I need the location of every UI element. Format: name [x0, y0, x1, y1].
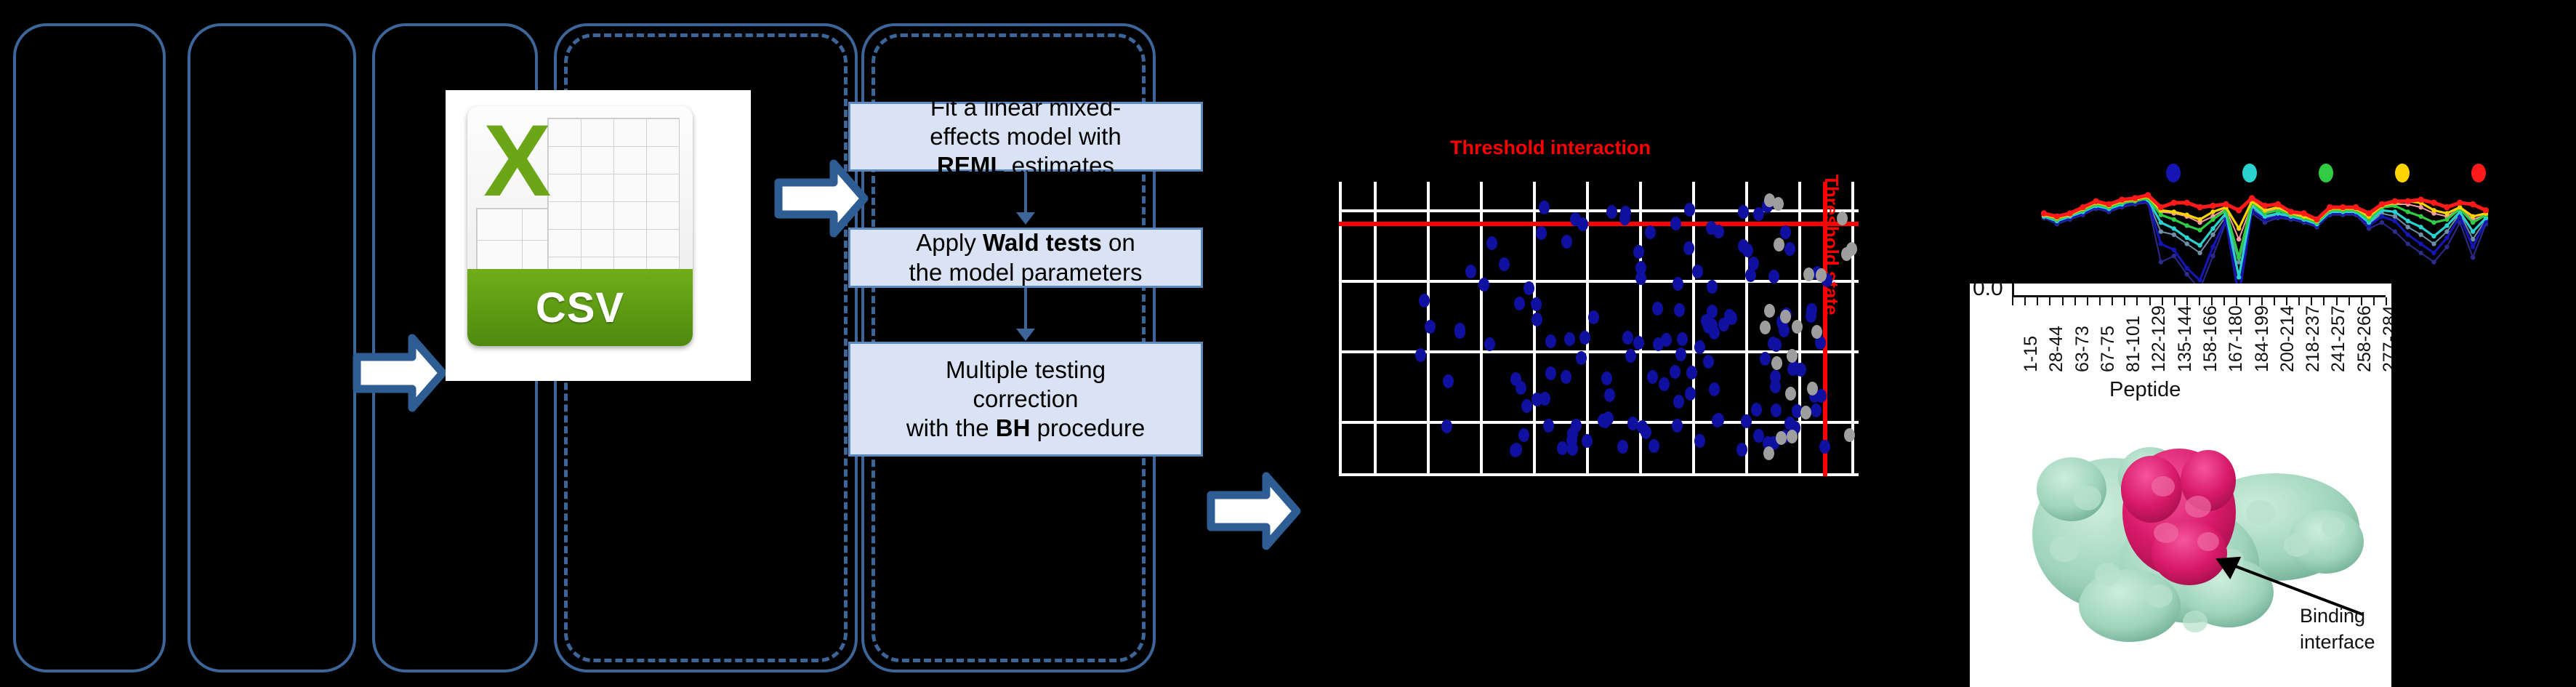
legend-dot-2	[2319, 164, 2333, 182]
volcano-point	[1635, 271, 1646, 285]
volcano-point	[1588, 310, 1599, 324]
peptide-marker	[2444, 236, 2449, 240]
peptide-marker	[2054, 214, 2060, 220]
volcano-point	[1677, 332, 1688, 346]
peptide-marker	[2418, 214, 2423, 219]
volcano-point	[1415, 348, 1426, 362]
x-axis-tick	[2211, 297, 2213, 305]
volcano-point	[1604, 388, 1615, 402]
x-axis-tick	[2249, 297, 2250, 305]
peptide-marker	[2185, 212, 2189, 217]
volcano-point	[1673, 277, 1683, 291]
arrow-data-to-csv	[353, 331, 447, 418]
volcano-point	[1675, 347, 1686, 361]
peptide-marker	[2159, 220, 2163, 225]
volcano-point	[1543, 419, 1554, 433]
volcano-point	[1539, 201, 1550, 214]
legend-dot-1	[2242, 164, 2257, 182]
volcano-point	[1745, 268, 1756, 282]
csv-file-icon: X CSV	[467, 106, 693, 346]
peptide-marker	[2301, 210, 2306, 216]
x-axis-tick	[2286, 297, 2287, 305]
volcano-point-nonsignificant	[1771, 356, 1782, 370]
peptide-marker	[2237, 255, 2241, 260]
x-axis-tick	[2223, 297, 2225, 305]
volcano-point	[1706, 221, 1717, 235]
volcano-point	[1811, 403, 1822, 417]
volcano-point	[1478, 278, 1489, 292]
peptide-marker	[2353, 204, 2359, 210]
volcano-point	[1692, 265, 1703, 278]
volcano-point	[1627, 417, 1638, 430]
peptide-marker	[2444, 223, 2449, 228]
peptide-marker	[2197, 243, 2202, 247]
volcano-point	[1779, 324, 1790, 337]
peptide-marker	[2041, 210, 2047, 216]
x-axis-tick	[2261, 297, 2263, 305]
peptide-marker	[2080, 204, 2085, 210]
volcano-point-nonsignificant	[1787, 349, 1798, 363]
peptide-tick-label: 81-101	[2123, 316, 2144, 372]
volcano-point	[1645, 225, 1656, 239]
volcano-point	[1738, 205, 1749, 219]
peptide-marker	[2185, 266, 2189, 270]
excel-x-glyph: X	[483, 110, 551, 212]
peptide-marker	[2418, 205, 2423, 209]
volcano-point	[1741, 414, 1752, 428]
connector-fit-to-wald	[1024, 172, 1027, 212]
peptide-marker	[2483, 207, 2489, 213]
x-axis-tick	[2174, 297, 2175, 305]
volcano-point	[1564, 332, 1575, 346]
volcano-point	[1601, 371, 1612, 385]
peptide-marker	[2471, 220, 2475, 225]
peptide-tick-label: 218-237	[2303, 305, 2324, 372]
volcano-point-nonsignificant	[1785, 387, 1796, 401]
peptide-marker	[2172, 233, 2176, 237]
x-axis-tick	[2074, 297, 2076, 305]
volcano-point	[1531, 313, 1542, 326]
volcano-point	[1753, 207, 1764, 221]
volcano-point-nonsignificant	[1774, 238, 1784, 252]
csv-format-band: CSV	[467, 269, 693, 346]
peptide-marker	[2185, 241, 2189, 246]
peptide-marker	[2223, 201, 2229, 207]
peptide-marker	[2172, 209, 2176, 214]
binding-interface-callout-line2: interface	[2300, 631, 2375, 654]
x-axis-tick	[2361, 297, 2362, 305]
volcano-point	[1686, 366, 1697, 379]
peptide-line-chart	[1984, 182, 2493, 287]
peptide-marker	[2197, 204, 2202, 210]
peptide-marker	[2431, 220, 2436, 225]
x-axis-tick	[2087, 297, 2088, 305]
volcano-point	[1673, 395, 1684, 409]
peptide-marker	[2119, 197, 2125, 203]
peptide-marker	[2172, 217, 2176, 222]
peptide-tick-label: 1-15	[2021, 336, 2042, 372]
peptide-marker	[2237, 237, 2241, 241]
volcano-point	[1760, 352, 1771, 366]
binding-interface-callout-line1: Binding	[2300, 605, 2365, 627]
peptide-marker	[2471, 229, 2475, 233]
peptide-tick-label: 184-199	[2252, 305, 2273, 372]
peptide-marker	[2393, 209, 2397, 214]
volcano-point	[1819, 440, 1830, 454]
peptide-marker	[2184, 200, 2190, 206]
volcano-point	[1545, 366, 1556, 380]
peptide-marker	[2393, 229, 2397, 233]
volcano-point	[1622, 331, 1633, 345]
volcano-point	[1649, 439, 1659, 453]
peptide-marker	[2431, 260, 2436, 264]
volcano-point	[1694, 340, 1705, 354]
peptide-marker	[2159, 260, 2163, 264]
peptide-tick-label: 158-166	[2200, 305, 2221, 372]
stage-box-1	[13, 23, 166, 672]
volcano-point	[1647, 370, 1658, 384]
peptide-marker	[2171, 200, 2177, 206]
peptide-marker	[2471, 244, 2475, 249]
peptide-marker	[2236, 207, 2242, 213]
x-axis-tick	[2186, 297, 2188, 305]
volcano-point	[1684, 203, 1695, 217]
peptide-marker	[2418, 251, 2423, 255]
peptide-marker	[2185, 236, 2189, 240]
volcano-point	[1784, 417, 1795, 430]
peptide-marker	[2406, 233, 2410, 237]
csv-grid-main	[547, 118, 680, 272]
peptide-tick-label: 167-180	[2226, 305, 2247, 372]
peptide-marker	[2067, 210, 2073, 216]
y-tick-label-zero: 0.0	[1973, 284, 2003, 301]
peptide-marker	[2159, 229, 2163, 233]
volcano-point	[1443, 374, 1454, 388]
peptide-marker	[2197, 251, 2202, 255]
volcano-point	[1736, 443, 1747, 457]
y-axis-stub	[2012, 284, 2014, 297]
peptide-marker	[2444, 204, 2450, 210]
threshold-interaction-label: Threshold interaction	[1450, 137, 1651, 159]
x-axis-tick	[2274, 297, 2275, 305]
volcano-point-nonsignificant	[1763, 446, 1774, 460]
x-axis-tick	[2049, 297, 2050, 305]
peptide-marker	[2431, 208, 2436, 212]
volcano-point-nonsignificant	[1764, 304, 1775, 318]
peptide-marker	[2431, 234, 2436, 238]
peptide-marker	[2471, 255, 2475, 260]
csv-format-label: CSV	[536, 284, 624, 332]
x-axis-ticks	[2012, 297, 2386, 306]
volcano-point	[1539, 392, 1550, 406]
legend-dot-3	[2395, 164, 2410, 182]
volcano-point-nonsignificant	[1816, 268, 1827, 282]
x-axis-tick	[2024, 297, 2026, 305]
volcano-point	[1521, 399, 1532, 413]
volcano-point	[1606, 205, 1617, 219]
peptide-marker	[2106, 201, 2112, 207]
volcano-point	[1742, 244, 1753, 257]
peptide-marker	[2406, 225, 2410, 229]
x-axis-tick	[2386, 297, 2387, 305]
volcano-point-nonsignificant	[1811, 325, 1822, 339]
peptide-axis-and-structure-card: 0.0 1-1528-4463-7367-7581-101122-129135-…	[1970, 284, 2391, 687]
volcano-point	[1510, 443, 1521, 457]
volcano-point	[1694, 434, 1705, 448]
peptide-tick-label: 122-129	[2149, 305, 2170, 372]
volcano-point	[1652, 302, 1663, 316]
volcano-point	[1454, 325, 1465, 339]
peptide-marker	[2418, 197, 2423, 203]
volcano-point	[1561, 370, 1571, 384]
volcano-point	[1751, 403, 1762, 417]
volcano-point	[1518, 428, 1529, 442]
volcano-point	[1625, 349, 1636, 363]
peptide-marker	[2406, 241, 2410, 246]
volcano-point	[1441, 419, 1452, 433]
peptide-tick-label: 28-44	[2046, 326, 2067, 372]
peptide-marker	[2314, 217, 2319, 222]
peptide-marker	[2249, 195, 2255, 201]
volcano-point	[1707, 305, 1718, 318]
process-box-fit-model: Fit a linear mixed-effects model with RE…	[848, 102, 1203, 172]
peptide-tick-label: 241-257	[2328, 305, 2349, 372]
volcano-point-cloud	[1339, 182, 1859, 476]
peptide-marker	[2418, 225, 2423, 229]
volcano-point	[1683, 241, 1694, 255]
x-axis-tick	[2348, 297, 2350, 305]
peptide-marker	[2406, 209, 2410, 214]
peptide-marker	[2379, 201, 2385, 207]
peptide-tick-label: 200-214	[2277, 305, 2298, 372]
x-axis-tick	[2236, 297, 2237, 305]
peptide-marker	[2197, 278, 2202, 282]
volcano-point-nonsignificant	[1764, 193, 1775, 207]
volcano-point	[1545, 334, 1556, 348]
volcano-point	[1707, 280, 1718, 294]
csv-sheet-area: X	[467, 106, 693, 269]
x-axis-tick	[2199, 297, 2200, 305]
volcano-point-nonsignificant	[1792, 320, 1803, 334]
peptide-marker	[2210, 217, 2215, 222]
volcano-point	[1576, 351, 1587, 365]
volcano-point-nonsignificant	[1837, 212, 1848, 225]
x-axis-caption: Peptide	[2109, 378, 2181, 402]
peptide-marker	[2185, 272, 2189, 276]
peptide-marker	[2210, 233, 2215, 237]
volcano-point	[1617, 440, 1628, 454]
volcano-point-nonsignificant	[1844, 428, 1855, 442]
peptide-marker	[2380, 214, 2384, 219]
x-axis-tick	[2099, 297, 2101, 305]
volcano-point-nonsignificant	[1800, 406, 1811, 419]
volcano-point	[1582, 434, 1593, 448]
volcano-point	[1620, 206, 1631, 220]
peptide-marker	[2210, 226, 2215, 230]
peptide-marker	[2406, 219, 2410, 223]
peptide-marker	[2237, 275, 2241, 279]
x-axis-tick	[2136, 297, 2138, 305]
peptide-marker	[2457, 200, 2463, 206]
volcano-point-nonsignificant	[1780, 310, 1791, 324]
x-axis-tick	[2037, 297, 2038, 305]
volcano-point	[1703, 355, 1714, 369]
x-axis-tick	[2298, 297, 2300, 305]
volcano-point-nonsignificant	[1760, 321, 1771, 334]
volcano-point	[1465, 265, 1476, 278]
x-axis-tick	[2112, 297, 2113, 305]
arrow-correction-to-volcano	[1207, 469, 1301, 556]
peptide-marker	[2210, 209, 2215, 214]
volcano-point	[1659, 377, 1670, 391]
peptide-marker	[2159, 241, 2163, 246]
peptide-marker	[2132, 195, 2138, 201]
peptide-marker	[2185, 223, 2189, 228]
peptide-marker	[2444, 211, 2449, 215]
peptide-marker	[2327, 204, 2333, 210]
volcano-point	[1531, 297, 1542, 311]
volcano-point	[1770, 370, 1781, 384]
volcano-point	[1579, 331, 1590, 345]
x-axis-tick	[2124, 297, 2125, 305]
x-axis-tick	[2336, 297, 2338, 305]
x-axis-tick	[2012, 297, 2013, 305]
peptide-tick-label: 258-266	[2354, 305, 2375, 372]
volcano-point	[1567, 427, 1578, 441]
peptide-marker	[2393, 219, 2397, 223]
volcano-point	[1685, 387, 1696, 401]
volcano-point	[1670, 217, 1681, 230]
peptide-marker	[2470, 201, 2476, 207]
x-axis-tick-labels: 1-1528-4463-7367-7581-101122-129135-1441…	[2012, 308, 2386, 374]
peptide-marker	[2197, 228, 2202, 232]
x-axis-tick	[2062, 297, 2064, 305]
volcano-point	[1561, 235, 1572, 249]
peptide-marker	[2093, 198, 2098, 204]
peptide-marker	[2275, 201, 2281, 207]
process-box-multiple-testing: Multiple testingcorrection with the BH p…	[848, 342, 1203, 457]
volcano-plot: Threshold interaction Threshold state	[1308, 145, 1861, 523]
peptide-marker	[2159, 212, 2163, 217]
volcano-point	[1510, 372, 1521, 386]
peptide-marker	[2393, 214, 2397, 219]
peptide-marker	[2237, 226, 2241, 230]
volcano-point-nonsignificant	[1803, 268, 1814, 281]
volcano-point	[1771, 403, 1782, 417]
x-axis-tick	[2373, 297, 2375, 305]
volcano-point	[1712, 414, 1723, 427]
peptide-marker	[2431, 200, 2436, 206]
peptide-marker	[2210, 244, 2215, 249]
csv-file-card: X CSV	[446, 90, 751, 381]
volcano-point	[1633, 245, 1644, 259]
volcano-point-nonsignificant	[1787, 430, 1798, 443]
process-box-fit-model-text: Fit a linear mixed-effects model with RE…	[930, 93, 1122, 181]
volcano-point	[1419, 294, 1430, 308]
volcano-point	[1514, 297, 1525, 310]
peptide-marker	[2172, 248, 2176, 252]
volcano-point	[1567, 442, 1578, 456]
peptide-marker	[2418, 241, 2423, 246]
x-axis-tick	[2149, 297, 2151, 305]
stage-box-2	[188, 23, 356, 672]
peptide-tick-label: 63-73	[2072, 326, 2093, 372]
peptide-marker	[2471, 214, 2475, 219]
volcano-point-nonsignificant	[1846, 242, 1857, 256]
legend-dot-4	[2471, 164, 2486, 182]
peptide-marker	[2405, 198, 2411, 204]
peptide-tick-label: 67-75	[2098, 326, 2119, 372]
process-box-wald-tests-text: Apply Wald tests on the model parameters	[909, 228, 1143, 287]
volcano-point	[1753, 429, 1764, 443]
volcano-point	[1661, 333, 1672, 347]
peptide-marker	[2262, 203, 2268, 209]
peptide-marker	[2444, 217, 2449, 222]
volcano-point	[1768, 270, 1779, 284]
peptide-marker	[2158, 204, 2164, 210]
peptide-tick-label: 135-144	[2175, 305, 2196, 372]
volcano-point	[1499, 257, 1510, 271]
peptide-marker	[2210, 254, 2215, 258]
volcano-point	[1425, 320, 1436, 334]
process-box-wald-tests: Apply Wald tests on the model parameters	[848, 228, 1203, 288]
peptide-marker	[2392, 198, 2398, 204]
process-box-multiple-testing-text: Multiple testingcorrection with the BH p…	[906, 355, 1145, 443]
x-axis-tick	[2162, 297, 2163, 305]
volcano-point	[1524, 281, 1534, 295]
volcano-point	[1486, 236, 1497, 250]
peptide-marker	[2288, 209, 2294, 214]
x-axis-tick	[2311, 297, 2312, 305]
volcano-point	[1670, 365, 1681, 379]
x-axis-tick	[2323, 297, 2325, 305]
peptide-marker	[2340, 204, 2346, 210]
peptide-marker	[2210, 203, 2215, 209]
legend-dot-0	[2166, 164, 2181, 182]
peptide-marker	[2380, 220, 2384, 225]
volcano-point	[1633, 336, 1644, 350]
volcano-point	[1726, 311, 1737, 325]
volcano-point	[1806, 303, 1817, 317]
connector-wald-to-bh	[1024, 288, 1027, 329]
peptide-marker	[2172, 254, 2176, 258]
volcano-point	[1557, 441, 1568, 455]
volcano-point	[1784, 242, 1795, 256]
peptide-tick-label: 277-284	[2380, 305, 2391, 372]
volcano-point	[1674, 303, 1685, 317]
volcano-point	[1768, 337, 1779, 350]
volcano-point	[1672, 419, 1683, 433]
peptide-marker	[2431, 241, 2436, 246]
volcano-point	[1484, 337, 1495, 351]
volcano-point	[1536, 226, 1547, 240]
peptide-marker	[2172, 226, 2176, 230]
peptide-marker	[2418, 233, 2423, 237]
peptide-marker	[2431, 251, 2436, 255]
peptide-marker	[2366, 210, 2372, 216]
peptide-marker	[2145, 192, 2151, 198]
pipeline-diagram: X CSV Fit a linear mixed-effects model w…	[0, 0, 2576, 687]
volcano-point	[1780, 225, 1791, 239]
peptide-marker	[2444, 244, 2449, 249]
peptide-marker	[2197, 217, 2202, 222]
volcano-point	[1709, 382, 1720, 396]
